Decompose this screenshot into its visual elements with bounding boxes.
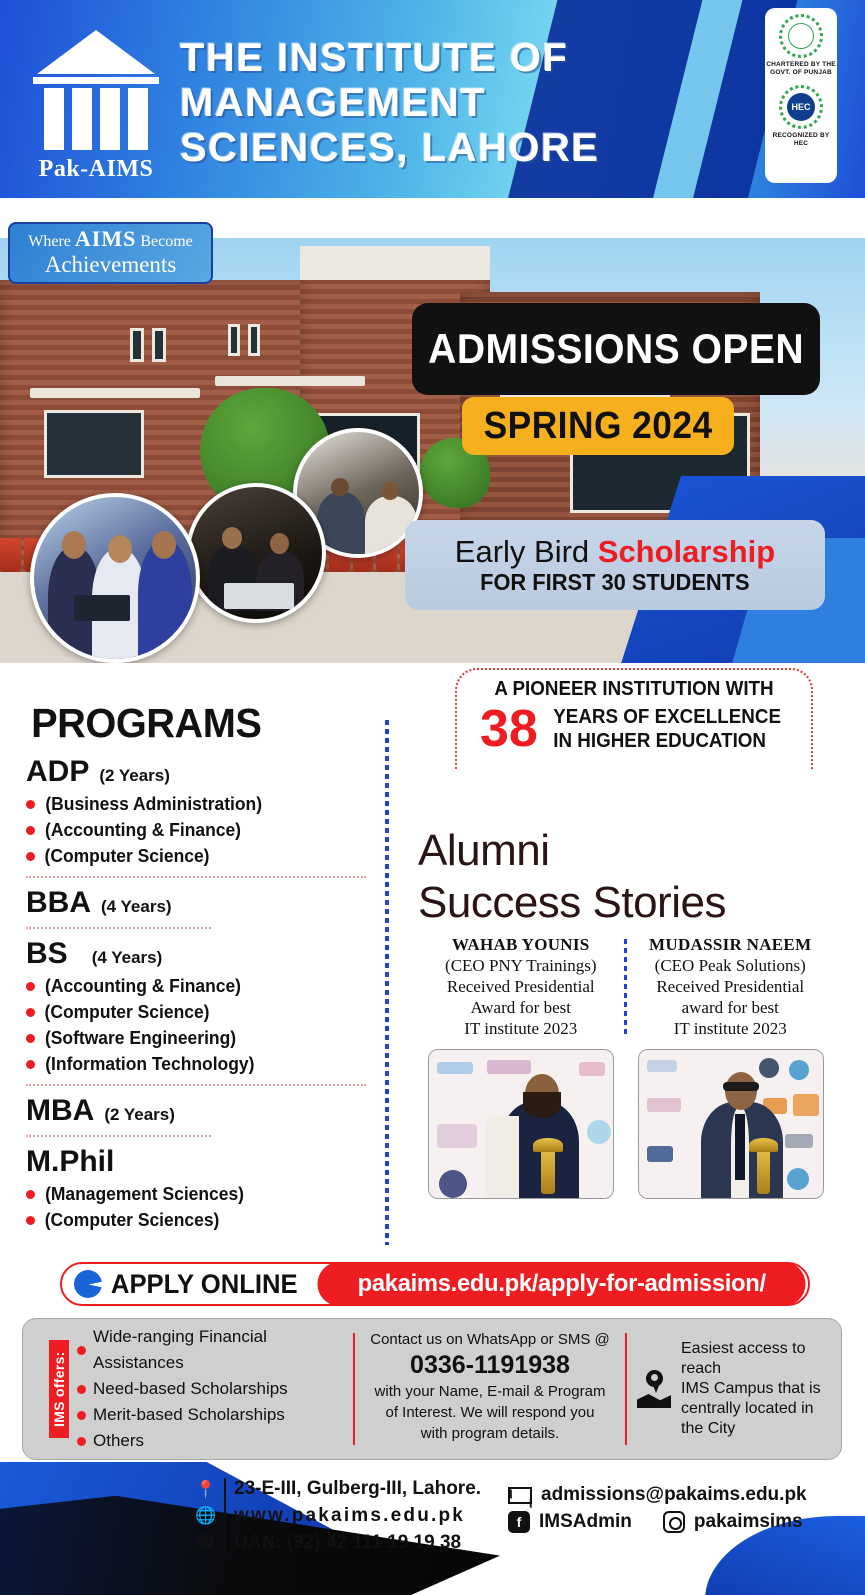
footer-rule [224,1478,226,1554]
alumni-photos [418,1049,833,1199]
bullet-dot-icon [26,1008,35,1017]
program-major: (Accounting & Finance) [26,817,366,843]
session-badge: SPRING 2024 [462,397,734,455]
admissions-poster: Pak-AIMS THE INSTITUTE OF MANAGEMENT SCI… [0,0,865,1595]
apply-online-icon [74,1270,102,1298]
offers-item-label: Wide-ranging Financial Assistances [93,1324,353,1376]
footer-contact-right: admissions@pakaims.edu.pk f IMSAdmin pak… [508,1484,807,1533]
early-bird-prefix: Early Bird [455,534,598,569]
institute-name-line3: SCIENCES, LAHORE [180,126,700,171]
programs-section: PROGRAMS ADP (2 Years) (Business Adminis… [26,700,366,1233]
program-heading-bba: BBA (4 Years) [26,886,366,920]
tagline-aims: AIMS [75,226,136,251]
program-name: ADP [26,755,89,789]
program-name: BS [26,937,68,971]
offers-list: Wide-ranging Financial Assistances Need-… [77,1324,353,1454]
pioneer-line1: A PIONEER INSTITUTION WITH [468,678,801,701]
alumni-photo-wahab-younis [428,1049,614,1199]
envelope-icon [508,1487,532,1504]
program-duration: (2 Years) [104,1105,175,1125]
bullet-dot-icon [77,1346,86,1355]
building-window [248,324,260,356]
admissions-open-banner: ADMISSIONS OPEN [412,303,820,395]
program-majors-adp: (Business Administration) (Accounting & … [26,791,366,869]
location-pin-icon: 📍 [196,1479,216,1501]
contact-phone[interactable]: 0336-1191938 [361,1350,619,1381]
program-divider [26,1135,211,1137]
program-major: (Computer Science) [26,999,366,1025]
program-heading-bs: BS (4 Years) [26,937,366,971]
pioneer-institution-callout: A PIONEER INSTITUTION WITH 38 YEARS OF E… [455,668,813,770]
session-label: SPRING 2024 [483,405,712,448]
facebook-icon: f [508,1511,530,1533]
bullet-dot-icon [77,1411,86,1420]
program-majors-mphil: (Management Sciences) (Computer Sciences… [26,1181,366,1233]
contact-intro: Contact us on WhatsApp or SMS @ [361,1329,619,1350]
tagline-where: Where [28,233,71,250]
phone-icon: ☎ [196,1531,216,1553]
alumni-section: Alumni Success Stories WAHAB YOUNIS (CEO… [418,825,833,1199]
building-ledge [30,388,200,398]
recognized-caption: RECOGNIZED BY HEC [765,132,837,148]
program-major: (Information Technology) [26,1051,366,1077]
program-major-label: (Information Technology) [45,1051,254,1077]
pioneer-years-number: 38 [480,703,538,755]
offers-panel: IMS offers: Wide-ranging Financial Assis… [22,1318,842,1460]
campus-building-parapet [300,246,490,280]
program-name: MBA [26,1094,94,1128]
program-major: (Computer Science) [26,843,366,869]
program-major: (Management Sciences) [26,1181,366,1207]
program-duration: (2 Years) [99,766,170,786]
bullet-dot-icon [77,1385,86,1394]
program-duration: (4 Years) [101,897,172,917]
alumni-card-1: WAHAB YOUNIS (CEO PNY Trainings) Receive… [418,935,624,1039]
ims-offers-tag: IMS offers: [49,1340,69,1438]
bullet-dot-icon [26,800,35,809]
offers-item-label: Others [93,1428,144,1454]
program-duration: (4 Years) [92,948,163,968]
program-divider [26,1084,366,1086]
tagline-become: Become [140,233,192,250]
map-pin-icon [637,1370,671,1408]
poster-footer: 📍 🌐 ☎ 23-E-III, Gulberg-III, Lahore. www… [0,1462,865,1595]
access-line1: Easiest access to reach [681,1339,831,1379]
bullet-dot-icon [26,1190,35,1199]
program-major: (Accounting & Finance) [26,973,366,999]
hec-emblem-icon: HEC [779,85,823,129]
tagline-badge: Where AIMS Become Achievements [8,222,213,284]
offers-left-column: IMS offers: Wide-ranging Financial Assis… [23,1319,353,1459]
building-window [130,328,144,362]
alumni-award-line3: IT institute 2023 [424,1018,618,1039]
bullet-dot-icon [77,1437,86,1446]
alumni-role: (CEO Peak Solutions) [633,955,827,976]
alumni-title: Alumni Success Stories [418,825,833,929]
program-major-label: (Computer Science) [45,999,210,1025]
logo-columns-shape [26,88,166,150]
pioneer-line3: IN HIGHER EDUCATION [553,729,781,753]
program-major-label: (Computer Sciences) [45,1207,220,1233]
program-heading-mba: MBA (2 Years) [26,1094,366,1128]
offers-list-item: Others [77,1428,353,1454]
instagram-icon [663,1511,685,1533]
program-major-label: (Management Sciences) [45,1181,244,1207]
alumni-title-line2: Success Stories [418,877,833,929]
section-vertical-divider [385,720,389,1245]
contact-instruction-line2: of Interest. We will respond you [361,1402,619,1423]
accreditation-badges: CHARTERED BY THE GOVT. OF PUNJAB HEC REC… [765,8,837,183]
program-major-label: (Business Administration) [45,791,262,817]
apply-online-bar[interactable]: APPLY ONLINE pakaims.edu.pk/apply-for-ad… [60,1262,810,1306]
footer-address: 23-E-III, Gulberg-III, Lahore. [234,1476,481,1502]
bullet-dot-icon [26,826,35,835]
bullet-dot-icon [26,982,35,991]
contact-block: Contact us on WhatsApp or SMS @ 0336-119… [355,1319,625,1459]
alumni-award-line1: Received Presidential [633,976,827,997]
offers-item-label: Need-based Scholarships [93,1376,288,1402]
institute-name-line1: THE INSTITUTE OF [180,36,700,81]
building-ledge [215,376,365,386]
alumni-name: WAHAB YOUNIS [424,935,618,955]
access-line2: IMS Campus that is [681,1379,831,1399]
alumni-name: MUDASSIR NAEEM [633,935,827,955]
tagline-line1: Where AIMS Become [10,229,211,252]
institute-name: THE INSTITUTE OF MANAGEMENT SCIENCES, LA… [180,36,700,171]
alumni-award-line2: Award for best [424,997,618,1018]
hec-mark: HEC [787,93,815,121]
program-majors-bs: (Accounting & Finance) (Computer Science… [26,973,366,1077]
footer-email[interactable]: admissions@pakaims.edu.pk [541,1484,807,1506]
footer-website[interactable]: www.pakaims.edu.pk [234,1503,481,1529]
program-name: M.Phil [26,1145,114,1179]
program-major-label: (Accounting & Finance) [45,973,241,999]
globe-icon: 🌐 [196,1505,216,1527]
contact-instruction-line3: with program details. [361,1423,619,1444]
building-window [44,410,144,478]
footer-instagram[interactable]: pakaimsims [694,1511,803,1533]
alumni-role: (CEO PNY Trainings) [424,955,618,976]
program-major: (Software Engineering) [26,1025,366,1051]
bullet-dot-icon [26,1060,35,1069]
alumni-photo-mudassir-naeem [638,1049,824,1199]
contact-instruction-line1: with your Name, E-mail & Program [361,1381,619,1402]
punjab-govt-emblem-icon [779,14,823,58]
logo-architrave-shape [33,77,159,84]
program-divider [26,876,366,878]
early-bird-highlight: Scholarship [598,534,775,569]
footer-facebook[interactable]: IMSAdmin [539,1511,632,1533]
offers-list-item: Wide-ranging Financial Assistances [77,1324,353,1376]
program-divider [26,927,211,929]
alumni-award-line2: award for best [633,997,827,1018]
offers-item-label: Merit-based Scholarships [93,1402,285,1428]
early-bird-subtext: FOR FIRST 30 STUDENTS [480,569,750,595]
bullet-dot-icon [26,1034,35,1043]
footer-contact-left: 📍 🌐 ☎ 23-E-III, Gulberg-III, Lahore. www… [196,1476,481,1556]
logo-wordmark: Pak-AIMS [26,156,166,183]
program-major-label: (Computer Science) [45,843,210,869]
building-window [228,324,240,356]
program-major-label: (Accounting & Finance) [45,817,241,843]
program-major: (Business Administration) [26,791,366,817]
alumni-award-line3: IT institute 2023 [633,1018,827,1039]
alumni-award-line1: Received Presidential [424,976,618,997]
footer-uan[interactable]: UAN: (92) 42 111 19 19 38 [234,1530,481,1556]
program-major-label: (Software Engineering) [45,1025,236,1051]
poster-header: Pak-AIMS THE INSTITUTE OF MANAGEMENT SCI… [0,0,865,198]
campus-access-block: Easiest access to reach IMS Campus that … [627,1319,841,1459]
program-name: BBA [26,886,91,920]
apply-online-label: APPLY ONLINE [111,1269,298,1300]
logo-roof-shape [37,30,155,74]
chartered-caption: CHARTERED BY THE GOVT. OF PUNJAB [765,61,837,77]
institute-logo: Pak-AIMS [26,30,166,175]
student-photo-group [30,493,200,663]
offers-list-item: Need-based Scholarships [77,1376,353,1402]
bullet-dot-icon [26,852,35,861]
alumni-card-2: MUDASSIR NAEEM (CEO Peak Solutions) Rece… [627,935,833,1039]
program-heading-adp: ADP (2 Years) [26,755,366,789]
institute-name-line2: MANAGEMENT [180,81,700,126]
program-major: (Computer Sciences) [26,1207,366,1233]
bullet-dot-icon [26,1216,35,1225]
access-line3: centrally located in the City [681,1399,831,1439]
tagline-achievements: Achievements [10,252,211,277]
alumni-columns: WAHAB YOUNIS (CEO PNY Trainings) Receive… [418,935,833,1039]
admissions-open-label: ADMISSIONS OPEN [428,325,804,373]
program-heading-mphil: M.Phil [26,1145,366,1179]
building-window [152,328,166,362]
early-bird-scholarship-banner: Early Bird Scholarship FOR FIRST 30 STUD… [405,520,825,610]
student-photo-lab [186,483,326,623]
early-bird-headline: Early Bird Scholarship [455,535,775,569]
programs-title: PROGRAMS [31,700,361,747]
offers-list-item: Merit-based Scholarships [77,1402,353,1428]
apply-online-url[interactable]: pakaims.edu.pk/apply-for-admission/ [317,1262,806,1306]
pioneer-line2: YEARS OF EXCELLENCE [553,705,781,729]
alumni-title-line1: Alumni [418,825,833,877]
